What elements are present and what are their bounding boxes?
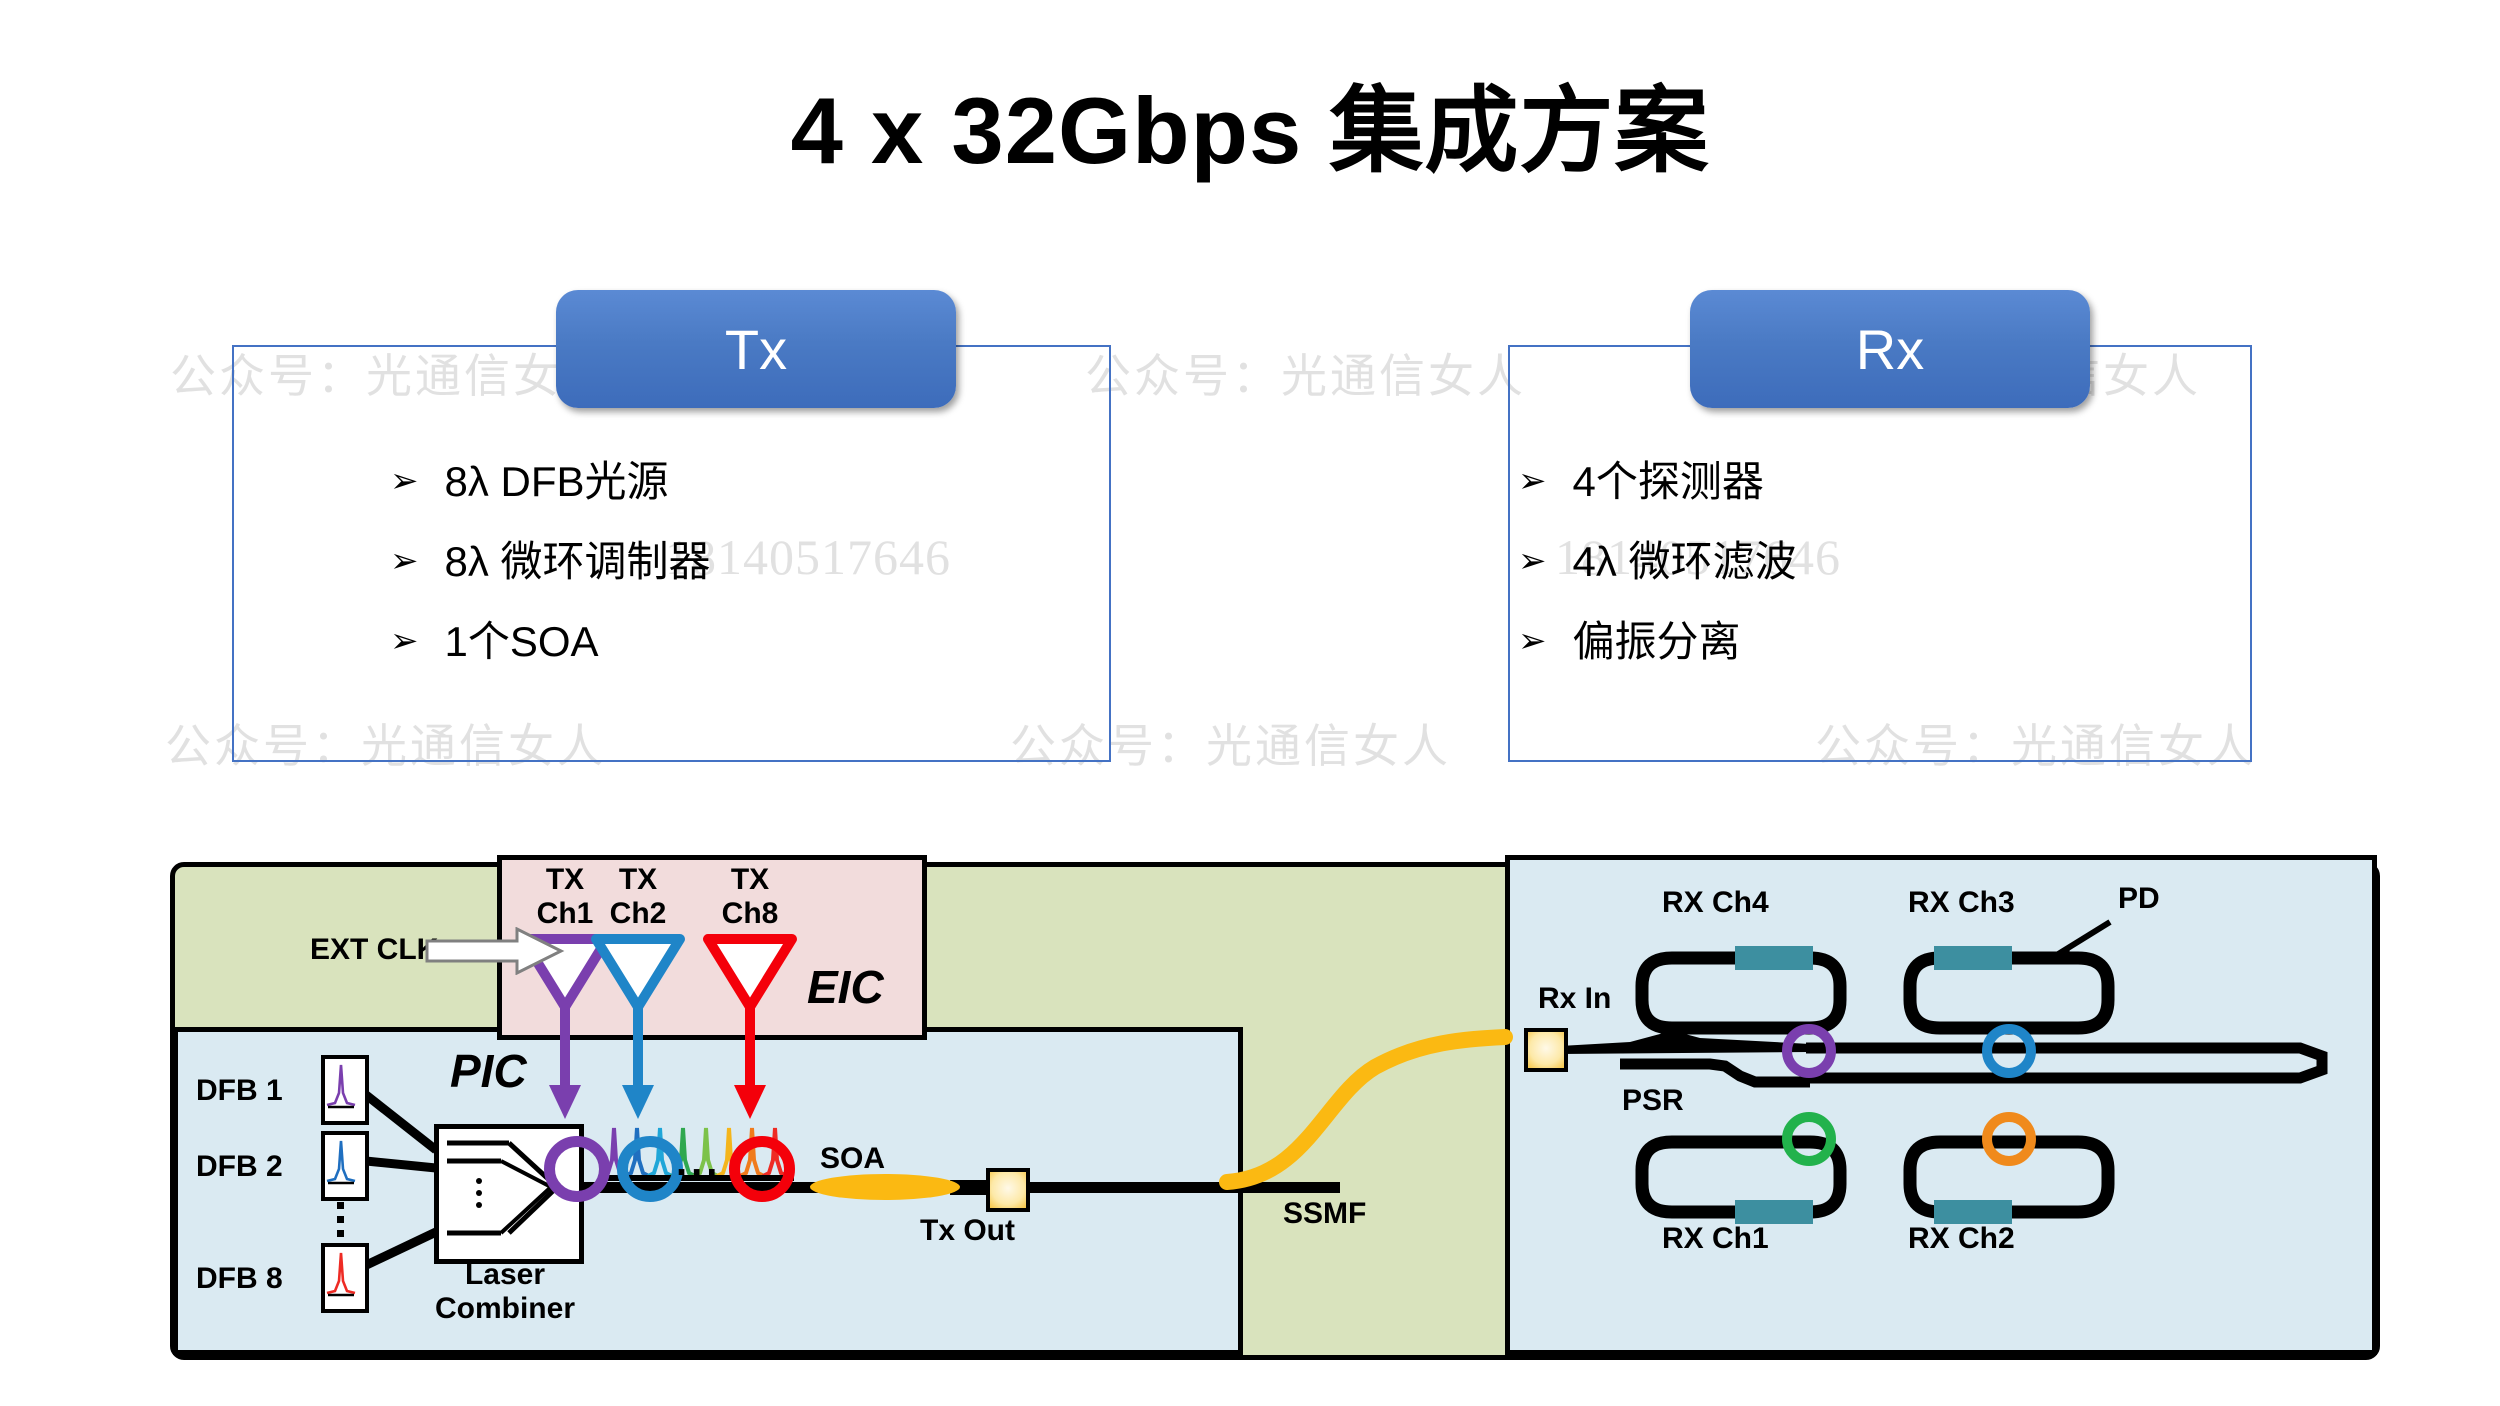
list-item: ➢ 4个探测器 [1518, 460, 1797, 504]
ext-clk-label: EXT CLK [310, 933, 438, 967]
tx-bullet-list: ➢ 8λ DFB光源 ➢ 8λ 微环调制器 ➢ 1个SOA [390, 460, 711, 700]
rx-bullet-list: ➢ 4个探测器 ➢ 4λ 微环滤波 ➢ 偏振分离 [1518, 460, 1797, 700]
rx-ch3-label: RX Ch3 [1908, 886, 2015, 920]
page-title: 4 x 32Gbps 集成方案 [0, 55, 2500, 191]
tx-ch2-line2: Ch2 [610, 897, 667, 930]
dfb-2-spectrum-icon [321, 1131, 369, 1201]
dfb-8-label: DFB 8 [196, 1262, 283, 1296]
rx-panel-header[interactable]: Rx [1690, 290, 2090, 408]
dfb-1-label: DFB 1 [196, 1074, 283, 1108]
micro-ring-modulator-ch2 [617, 1136, 683, 1202]
dfb-8-spectrum-icon [321, 1243, 369, 1313]
laser-combiner-label: Laser Combiner [430, 1258, 580, 1326]
tx-panel-header-label: Tx [725, 317, 787, 382]
list-item-label: 1个SOA [445, 620, 599, 664]
list-item-label: 4个探测器 [1573, 460, 1764, 504]
list-item-label: 4λ 微环滤波 [1573, 540, 1797, 584]
micro-ring-filter-ch3 [1982, 1024, 2036, 1078]
tx-ch1-line1: TX [546, 863, 584, 896]
bullet-arrow-icon: ➢ [1518, 464, 1547, 498]
list-item-label: 偏振分离 [1573, 620, 1741, 664]
list-item-label: 8λ DFB光源 [445, 460, 669, 504]
soa-element [810, 1174, 960, 1200]
psr-label: PSR [1622, 1084, 1684, 1118]
tx-panel-header[interactable]: Tx [556, 290, 956, 408]
ext-clk-arrow-icon [425, 927, 565, 975]
bullet-arrow-icon: ➢ [390, 624, 419, 658]
pd-label: PD [2118, 882, 2160, 916]
bullet-arrow-icon: ➢ [390, 544, 419, 578]
photodetector-ch1 [1735, 1200, 1813, 1224]
rx-ch2-label: RX Ch2 [1908, 1222, 2015, 1256]
tx-out-label: Tx Out [920, 1214, 1015, 1248]
tx-ch8-line2: Ch8 [722, 897, 779, 930]
system-diagram-container: EXT CLK EIC TX Ch1 TX Ch2 TX Ch8 PIC [170, 862, 2380, 1360]
ssmf-fiber [1215, 927, 1515, 1347]
laser-combiner-line1: Laser [465, 1258, 545, 1291]
pic-label: PIC [450, 1044, 527, 1098]
tx-ch8-label: TX Ch8 [715, 863, 785, 931]
list-item: ➢ 8λ DFB光源 [390, 460, 711, 504]
rx-in-edge-coupler [1524, 1028, 1568, 1072]
rx-ch4-label: RX Ch4 [1662, 886, 1769, 920]
micro-ring-filter-ch4 [1782, 1024, 1836, 1078]
ssmf-label: SSMF [1283, 1197, 1366, 1231]
list-item: ➢ 偏振分离 [1518, 620, 1797, 664]
list-item: ➢ 4λ 微环滤波 [1518, 540, 1797, 584]
watermark-text: 公众号：光通信女人 [1085, 340, 1526, 406]
soa-label: SOA [820, 1142, 885, 1176]
dfb-1-spectrum-icon [321, 1055, 369, 1125]
micro-ring-filter-ch2 [1982, 1112, 2036, 1166]
micro-ring-filter-ch1 [1782, 1112, 1836, 1166]
photodetector-ch3 [1934, 946, 2012, 970]
tx-ch8-line1: TX [731, 863, 769, 896]
tx-out-edge-coupler [986, 1168, 1030, 1212]
rx-in-label: Rx In [1538, 982, 1611, 1016]
bullet-arrow-icon: ➢ [1518, 624, 1547, 658]
rx-chip-block: Rx In [1505, 855, 2377, 1355]
laser-combiner-line2: Combiner [435, 1292, 575, 1325]
ring-ellipsis-icon: ... [676, 1140, 721, 1185]
dfb-2-label: DFB 2 [196, 1150, 283, 1184]
list-item-label: 8λ 微环调制器 [445, 540, 711, 584]
dfb-vertical-ellipsis-icon [337, 1195, 344, 1244]
list-item: ➢ 8λ 微环调制器 [390, 540, 711, 584]
tx-ch1-line2: Ch1 [537, 897, 594, 930]
bullet-arrow-icon: ➢ [390, 464, 419, 498]
micro-ring-modulator-ch1 [544, 1136, 610, 1202]
bullet-arrow-icon: ➢ [1518, 544, 1547, 578]
micro-ring-modulator-ch8 [729, 1136, 795, 1202]
rx-panel-header-label: Rx [1856, 317, 1924, 382]
eic-label: EIC [807, 960, 884, 1014]
tx-ch2-label: TX Ch2 [603, 863, 673, 931]
tx-ch2-line1: TX [619, 863, 657, 896]
list-item: ➢ 1个SOA [390, 620, 711, 664]
photodetector-ch4 [1735, 946, 1813, 970]
pic-block: PIC DFB 1 DFB 2 DFB 8 [173, 1027, 1243, 1355]
tx-ch1-label: TX Ch1 [530, 863, 600, 931]
rx-ch1-label: RX Ch1 [1662, 1222, 1769, 1256]
photodetector-ch2 [1934, 1200, 2012, 1224]
